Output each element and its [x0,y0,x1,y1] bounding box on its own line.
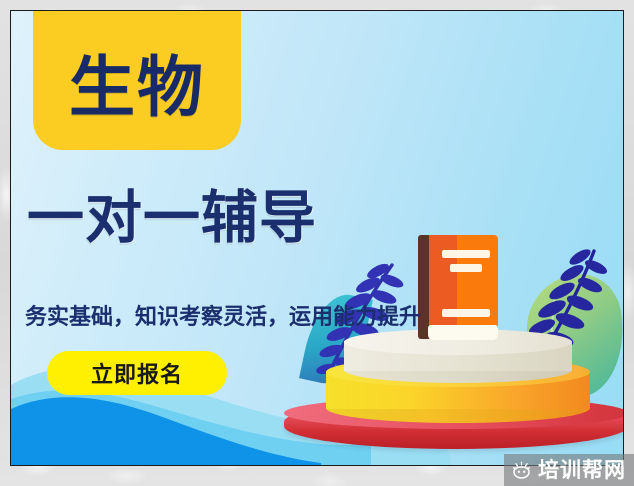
site-watermark-label: 培训帮网 [538,460,626,481]
textbook-icon [418,235,498,343]
page-title: 一对一辅导 [27,190,317,247]
subject-badge-label: 生物 [69,39,205,121]
book-title-bar-2 [450,264,482,272]
book-pages [428,325,498,340]
site-watermark: 培训帮网 [504,454,634,486]
book-title-bar-3 [442,309,490,317]
page-backdrop: 生物 一对一辅导 务实基础，知识考察灵活，运用能力提升 立即报名 [0,0,634,486]
book-title-bar-1 [442,250,490,258]
course-promo-banner: 生物 一对一辅导 务实基础，知识考察灵活，运用能力提升 立即报名 [10,10,624,466]
podium-illustration [286,241,624,466]
sunburst-eye-icon [512,461,531,480]
subtitle-text: 务实基础，知识考察灵活，运用能力提升 [25,299,421,331]
enroll-now-label: 立即报名 [91,357,183,389]
enroll-now-button[interactable]: 立即报名 [47,351,227,395]
subject-badge: 生物 [33,10,241,150]
